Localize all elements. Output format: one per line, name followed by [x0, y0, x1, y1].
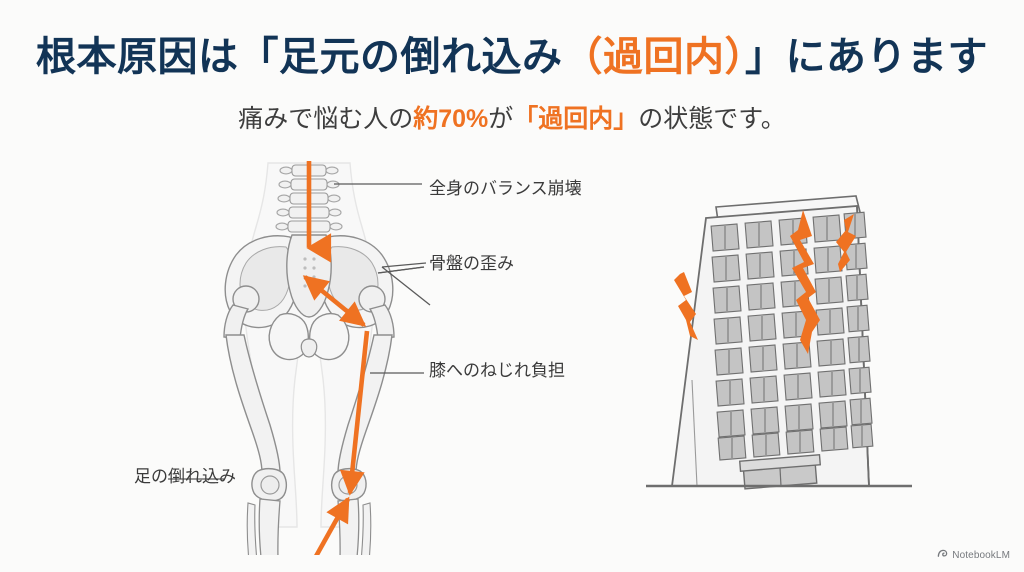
- leader-line-pelvis-c: [382, 263, 426, 267]
- callout-label-pelvis: 骨盤の歪み: [429, 255, 514, 272]
- title-part-1: 根本原因は「足元の倒れ込み: [36, 35, 563, 79]
- notebooklm-watermark-text: NotebookLM: [952, 550, 1010, 561]
- building-figure: [640, 180, 920, 520]
- callout-label-knee: 膝へのねじれ負担: [429, 362, 565, 379]
- skeleton-figure: [120, 155, 640, 555]
- subtitle-accent-term: 「過回内」: [513, 105, 638, 133]
- lower-leg-bones: [247, 499, 371, 555]
- title-part-2: 」にあります: [745, 35, 988, 79]
- subtitle-accent-percentage: 約70%: [413, 105, 488, 133]
- callout-label-foot: 足の倒れ込み: [134, 468, 236, 485]
- subtitle-part-2: が: [488, 105, 513, 133]
- notebooklm-watermark: NotebookLM: [937, 548, 1010, 562]
- subtitle-part-1: 痛みで悩む人の: [238, 105, 413, 133]
- notebooklm-logo-icon: [937, 548, 948, 562]
- page-subtitle: 痛みで悩む人の約70%が「過回内」の状態です。: [0, 104, 1024, 134]
- slide-canvas: 根本原因は「足元の倒れ込み（過回内）」にあります 痛みで悩む人の約70%が「過回…: [0, 0, 1024, 572]
- building-entrance: [740, 455, 821, 489]
- subtitle-part-3: の状態です。: [638, 105, 786, 133]
- callout-label-balance: 全身のバランス崩壊: [429, 180, 582, 197]
- page-title: 根本原因は「足元の倒れ込み（過回内）」にあります: [0, 34, 1024, 80]
- title-accent: （過回内）: [563, 35, 746, 79]
